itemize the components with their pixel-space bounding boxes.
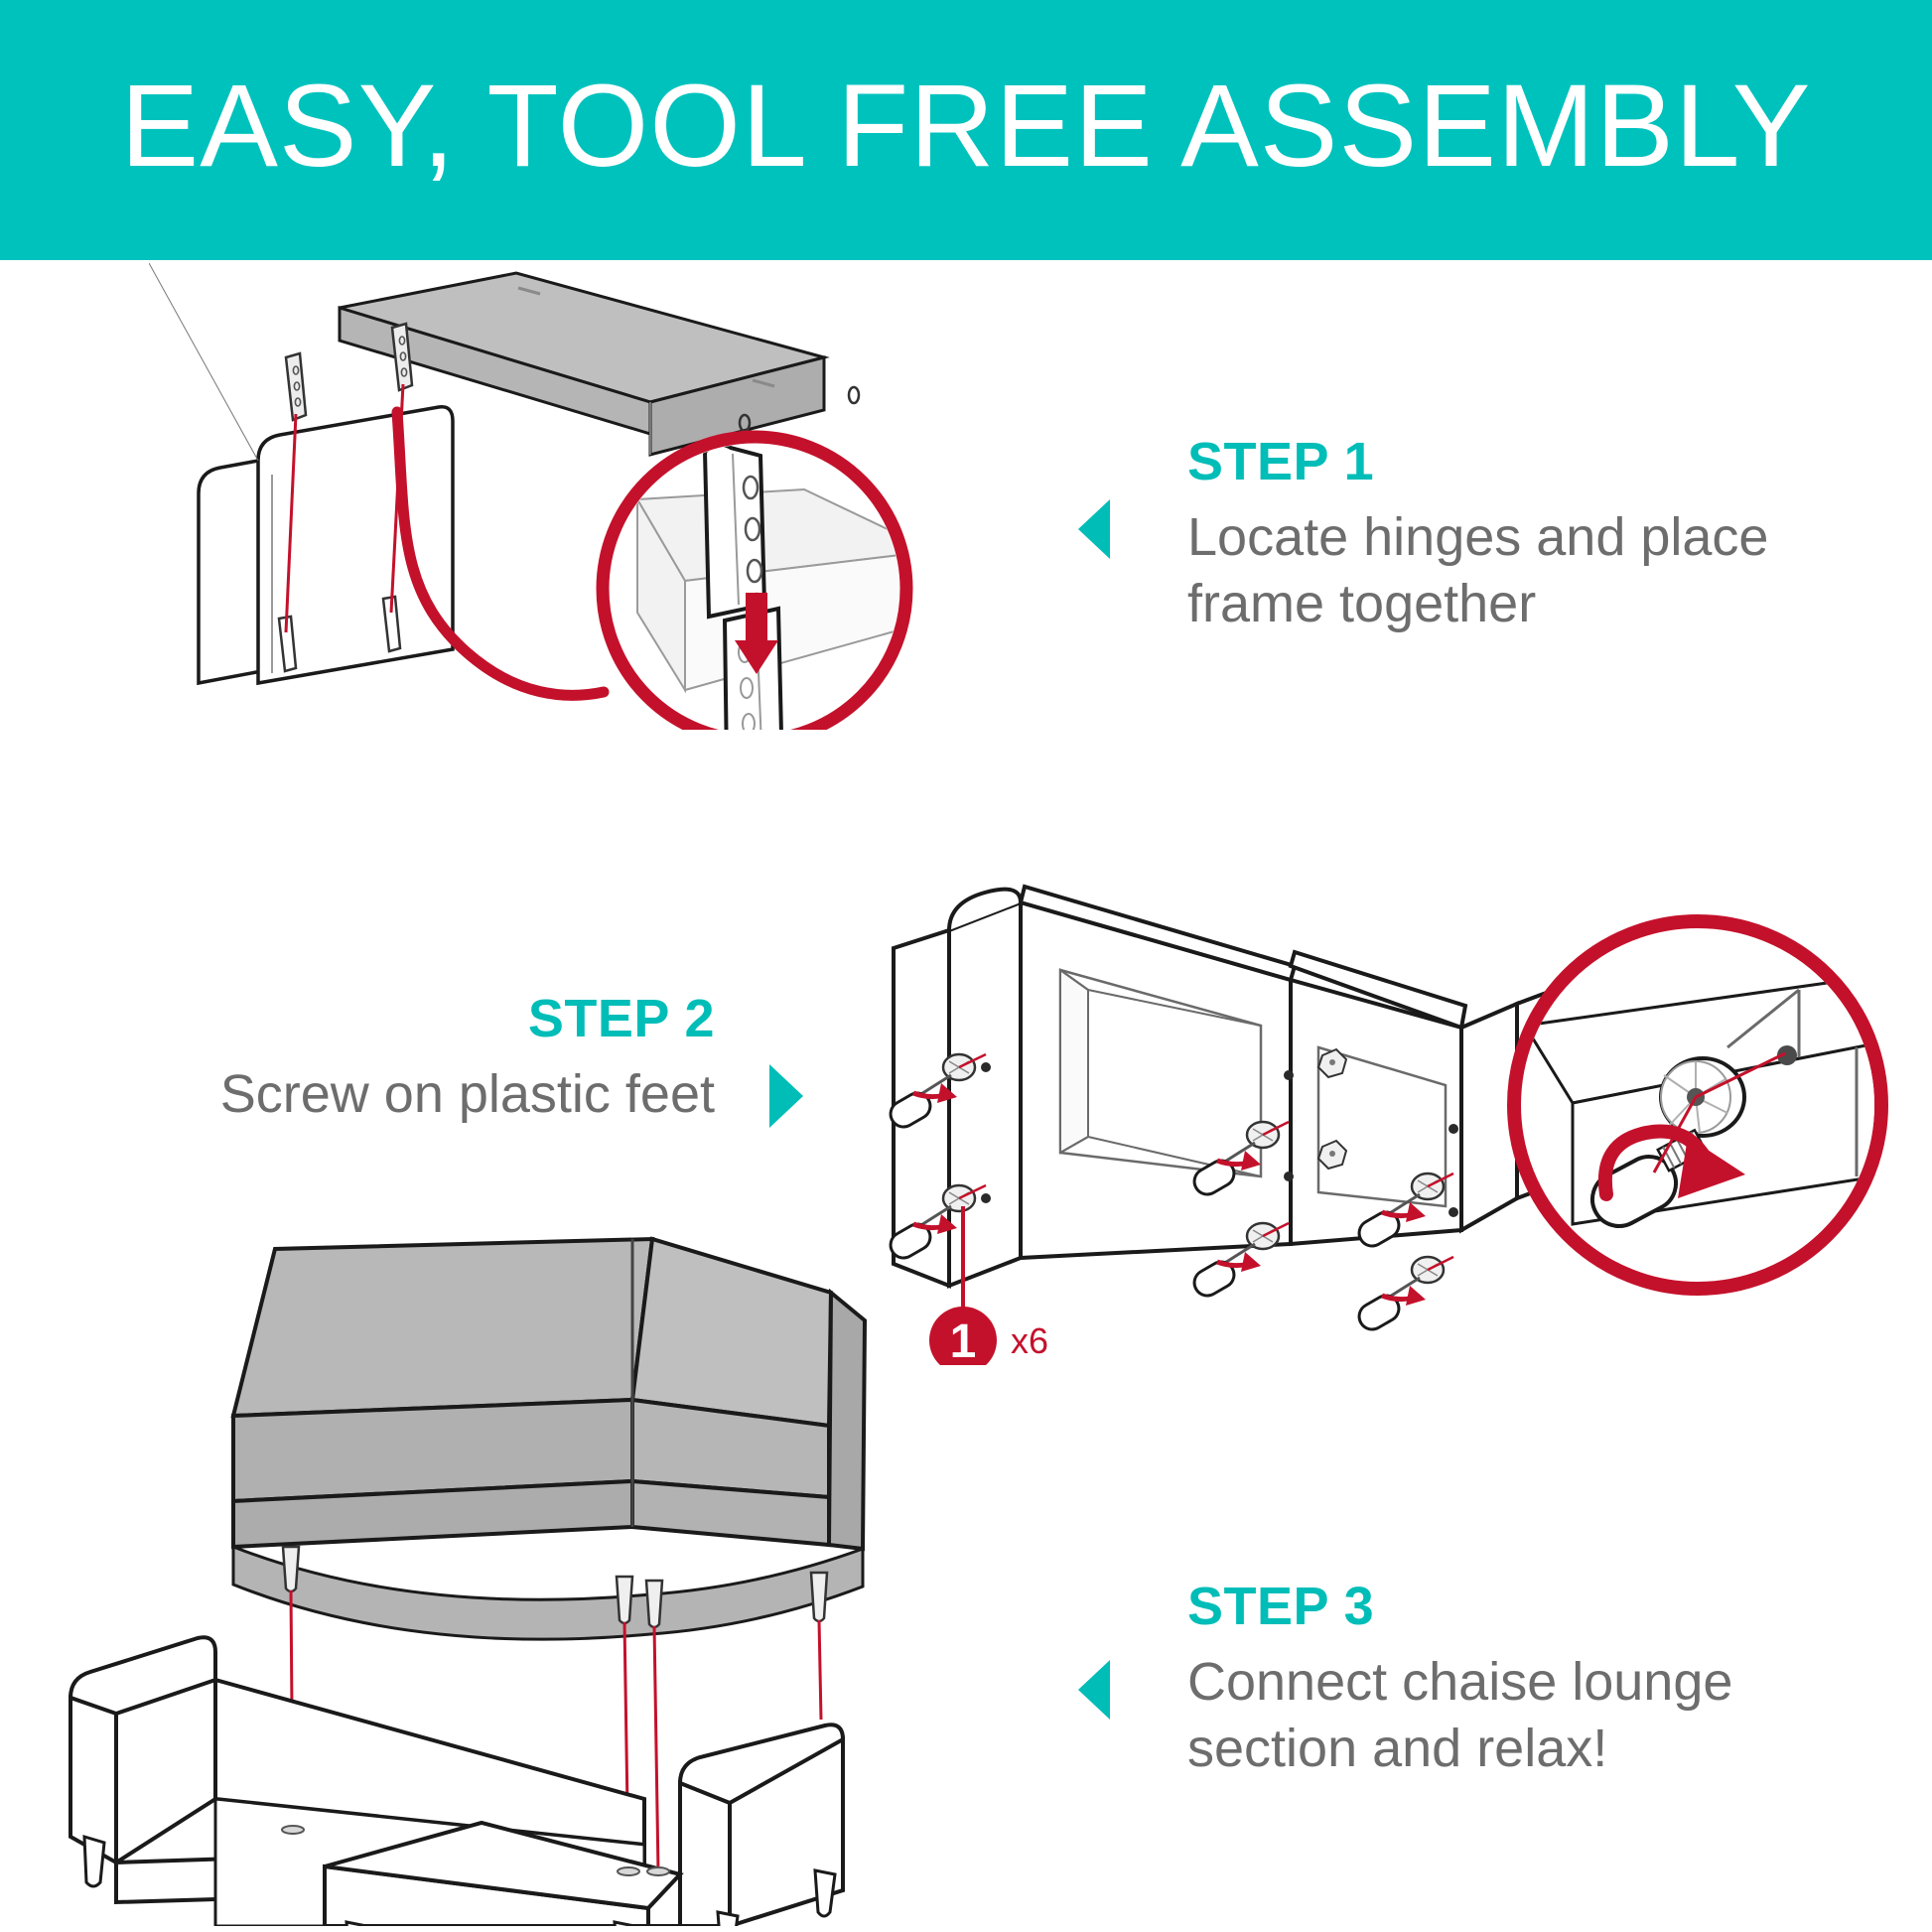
part-quantity-label: x6 — [1011, 1320, 1048, 1361]
step-2-description: Screw on plastic feet — [119, 1061, 715, 1128]
step-3-title: STEP 3 — [1187, 1579, 1863, 1635]
step-1-illustration — [149, 263, 943, 735]
step-2-text-block: STEP 2 Screw on plastic feet — [119, 991, 715, 1128]
frame-section-a — [1021, 887, 1295, 1258]
step-3-illustration — [45, 1231, 998, 1931]
step-1-title: STEP 1 — [1187, 434, 1863, 490]
page-title: EASY, TOOL FREE ASSEMBLY — [0, 0, 1932, 260]
step-2-title: STEP 2 — [119, 991, 715, 1047]
sofa-seat-base — [70, 1637, 843, 1926]
foot-screw-detail-callout — [1514, 921, 1881, 1289]
backrest-section — [233, 1239, 865, 1639]
hinge-detail-callout — [603, 437, 933, 730]
step-1-text-block: STEP 1 Locate hinges and place frame tog… — [1187, 434, 1863, 637]
step-3-text-block: STEP 3 Connect chaise lounge section and… — [1187, 1579, 1863, 1782]
plastic-foot — [1354, 1257, 1453, 1334]
header-banner: EASY, TOOL FREE ASSEMBLY — [0, 0, 1932, 260]
step-3-description: Connect chaise lounge section and relax! — [1187, 1649, 1863, 1782]
step-1-description: Locate hinges and place frame together — [1187, 504, 1863, 637]
infographic-page: EASY, TOOL FREE ASSEMBLY — [0, 0, 1932, 1932]
step-2-arrow-icon — [769, 1064, 803, 1128]
step-2-illustration: 1 x6 — [854, 849, 1932, 1370]
frame-section-b — [1291, 952, 1465, 1244]
step-1-arrow-icon — [1078, 499, 1110, 559]
step-3-arrow-icon — [1078, 1660, 1110, 1720]
